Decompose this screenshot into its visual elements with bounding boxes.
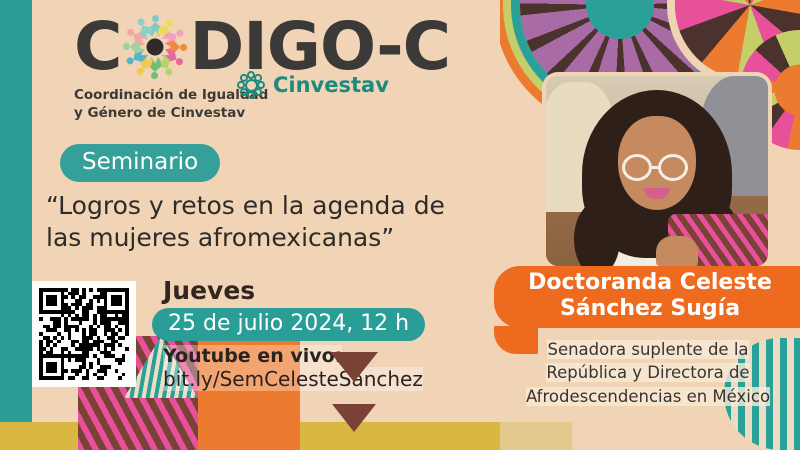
triangle-motif-icon (330, 352, 378, 382)
logo-letter-c: C (74, 14, 121, 80)
event-day: Jueves (163, 276, 255, 305)
cinvestav-ring-icon (236, 70, 266, 100)
speaker-name-line2: Sánchez Sugía (528, 296, 772, 322)
eyeglasses-icon (658, 154, 688, 181)
logo-subtitle-line2: y Género de Cinvestav (74, 104, 474, 122)
event-date-badge: 25 de julio 2024, 12 h (152, 308, 425, 341)
eyeglasses-icon (622, 154, 652, 181)
stream-label: Youtube en vivo: (163, 345, 342, 367)
speaker-role-line3: Afrodescendencias en México (526, 387, 770, 406)
people-ring-icon (123, 15, 187, 79)
speaker-role-line1: Senadora suplente de la (547, 340, 748, 359)
stream-link[interactable]: bit.ly/SemCelesteSanchez (163, 367, 423, 391)
seminario-badge: Seminario (60, 144, 220, 182)
seminar-title-line2: las mujeres afromexicanas” (46, 222, 486, 254)
speaker-name-banner: Doctoranda Celeste Sánchez Sugía (494, 266, 800, 328)
poster-canvas: C DIGO-C Coordinación de Igualdad y Géne… (0, 0, 800, 450)
speaker-name-line1: Doctoranda Celeste (528, 270, 772, 296)
seminar-title-line1: “Logros y retos en la agenda de (46, 190, 486, 222)
speaker-role: Senadora suplente de la República y Dire… (498, 338, 798, 408)
speaker-photo (546, 76, 768, 266)
cinvestav-logo: Cinvestav (236, 70, 389, 100)
codigo-c-logo: C DIGO-C Coordinación de Igualdad y Géne… (74, 14, 474, 122)
left-accent-stripe (0, 0, 32, 422)
triangle-motif-icon (332, 404, 376, 432)
qr-code-icon[interactable] (32, 281, 136, 387)
cinvestav-label: Cinvestav (273, 73, 389, 97)
speaker-role-line2: República y Directora de (546, 363, 749, 382)
seminar-title: “Logros y retos en la agenda de las muje… (46, 190, 486, 254)
yellow-strip-accent (500, 422, 572, 450)
